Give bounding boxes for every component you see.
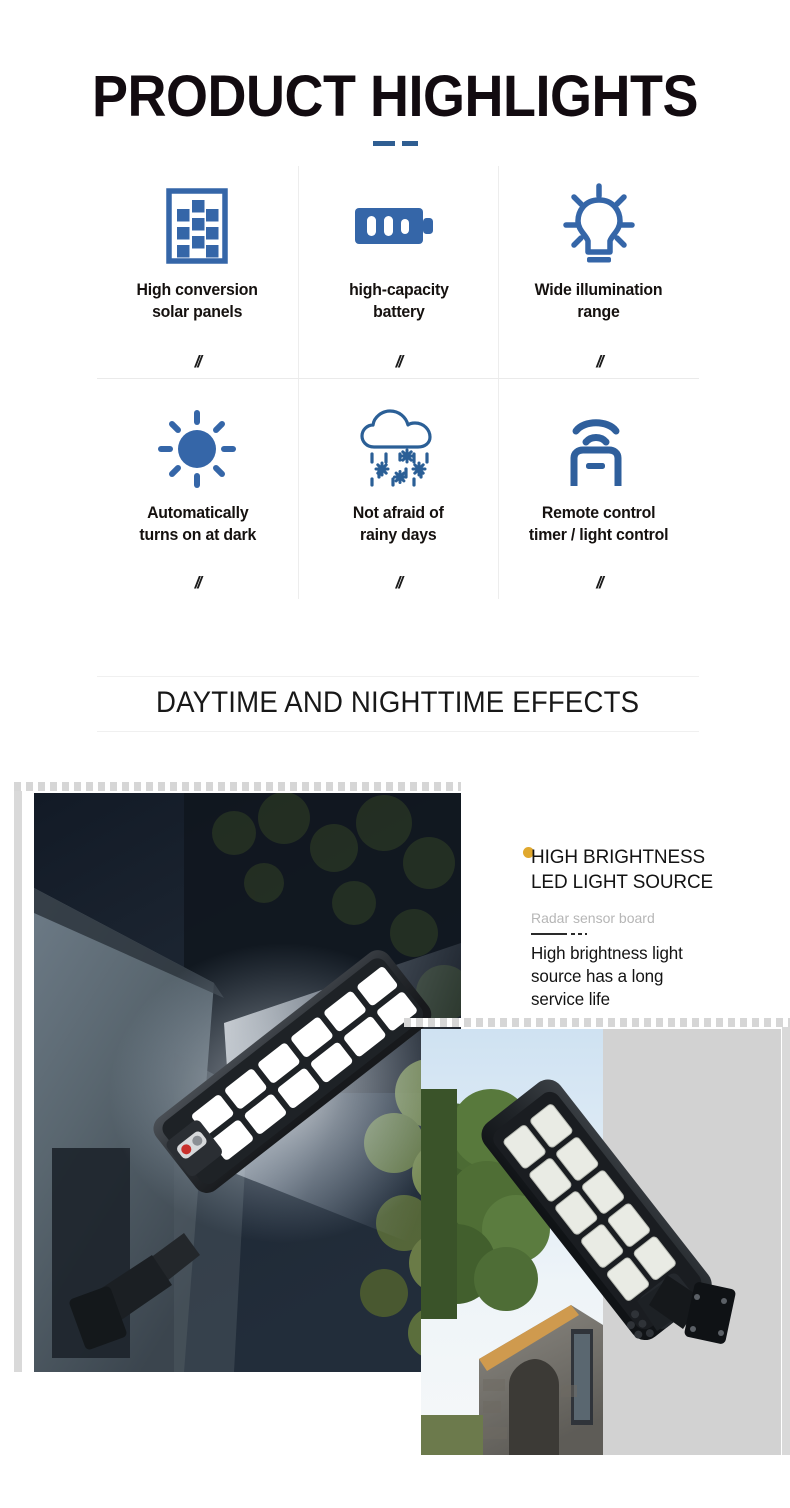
photo-frame-bar-left <box>14 791 22 1372</box>
feature-cell-auto-dark[interactable]: Automatically turns on at dark // <box>97 379 298 599</box>
feature-cell-battery[interactable]: high-capacity battery // <box>298 166 499 378</box>
day-photo-image <box>421 1029 781 1455</box>
effects-section-heading: DAYTIME AND NIGHTTIME EFFECTS <box>97 676 699 732</box>
divider-dashed-segment <box>571 933 587 935</box>
battery-icon <box>299 178 499 274</box>
accent-dash-long <box>373 141 395 146</box>
feature-cell-remote[interactable]: Remote control timer / light control // <box>498 379 699 599</box>
feature-row-1: High conversion solar panels // <box>97 166 699 378</box>
daytime-effect-photo[interactable] <box>404 1018 790 1455</box>
title-accent-dashes <box>0 141 790 146</box>
feature-label: Remote control timer / light control <box>529 503 668 547</box>
feature-label: High conversion solar panels <box>137 280 258 324</box>
feature-label: Automatically turns on at dark <box>139 503 256 547</box>
section-heading-text: DAYTIME AND NIGHTTIME EFFECTS <box>156 688 639 718</box>
feature-label: Wide illumination range <box>535 280 663 324</box>
night-effect-photo[interactable] <box>14 782 461 1372</box>
photo-frame-bar-right <box>782 1027 790 1455</box>
feature-slash: // <box>596 573 601 593</box>
info-subtitle: Radar sensor board <box>531 910 781 927</box>
solar-panel-icon <box>97 178 298 274</box>
feature-slash: // <box>396 352 401 372</box>
rain-cloud-icon <box>299 401 499 497</box>
feature-slash: // <box>195 573 200 593</box>
product-highlights-page: PRODUCT HIGHLIGHTS <box>0 0 790 1508</box>
feature-cell-solar-panel[interactable]: High conversion solar panels // <box>97 166 298 378</box>
divider-solid-segment <box>531 933 567 935</box>
photo-frame-dashes-top <box>404 1018 790 1027</box>
feature-slash: // <box>596 352 601 372</box>
info-body-text: High brightness light source has a long … <box>531 942 774 1011</box>
info-divider <box>531 933 781 935</box>
feature-cell-rainy[interactable]: Not afraid of rainy days // <box>298 379 499 599</box>
info-block: HIGH BRIGHTNESS LED LIGHT SOURCE Radar s… <box>531 845 781 1011</box>
photo-frame-dashes-top <box>14 782 461 791</box>
page-title: PRODUCT HIGHLIGHTS <box>28 68 763 126</box>
sun-icon <box>97 401 298 497</box>
feature-label: Not afraid of rainy days <box>353 503 444 547</box>
feature-cell-illumination[interactable]: Wide illumination range // <box>498 166 699 378</box>
feature-row-2: Automatically turns on at dark // <box>97 378 699 599</box>
remote-control-icon <box>499 401 699 497</box>
feature-grid: High conversion solar panels // <box>97 166 699 599</box>
feature-slash: // <box>195 352 200 372</box>
feature-label: high-capacity battery <box>349 280 449 324</box>
info-title: HIGH BRIGHTNESS LED LIGHT SOURCE <box>531 845 774 896</box>
night-photo-image <box>34 793 461 1372</box>
feature-slash: // <box>396 573 401 593</box>
lightbulb-icon <box>499 178 699 274</box>
accent-dash-short <box>402 141 418 146</box>
